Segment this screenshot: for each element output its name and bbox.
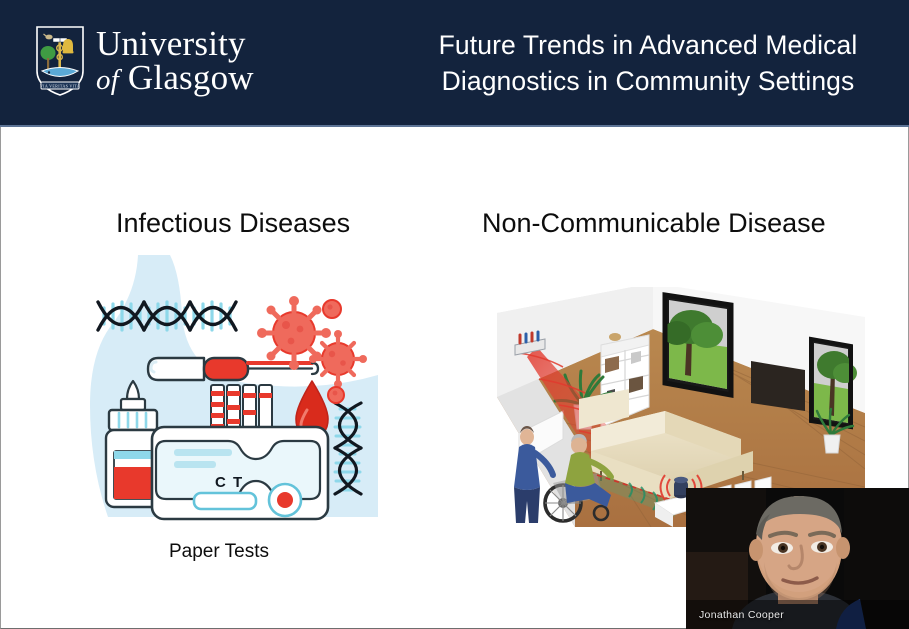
webcam-participant-name: Jonathan Cooper (699, 609, 784, 621)
heading-non-communicable-disease: Non-Communicable Disease (482, 208, 826, 239)
logo-line-of-glasgow: of Glasgow (96, 61, 254, 95)
logo-wordmark: University of Glasgow (96, 27, 254, 94)
slide-title-line-1: Future Trends in Advanced Medical (398, 27, 898, 63)
shelf-ornament (609, 333, 621, 341)
cassette-label-c: C (215, 474, 226, 491)
paper-diagnostics-illustration: C T (86, 255, 378, 527)
slide-title-line-2: Diagnostics in Community Settings (398, 63, 898, 99)
logo-word-of: of (96, 64, 119, 96)
webcam-video-frame (686, 488, 909, 629)
caption-paper-tests: Paper Tests (169, 541, 269, 563)
virus-small-1 (323, 300, 341, 318)
svg-text:VIA VERITAS VITA: VIA VERITAS VITA (40, 83, 80, 88)
logo-line-university: University (96, 27, 254, 61)
glasgow-crest-icon: VIA VERITAS VITA (34, 25, 86, 97)
lateral-flow-cassette-icon: C T (152, 427, 328, 519)
heading-infectious-diseases: Infectious Diseases (116, 208, 350, 239)
presentation-slide: VIA VERITAS VITA University of Glasgow F… (0, 0, 909, 629)
webcam-video-overlay[interactable]: Jonathan Cooper (686, 488, 909, 629)
slide-header: VIA VERITAS VITA University of Glasgow F… (0, 0, 909, 127)
cassette-label-t: T (233, 474, 242, 491)
slide-title: Future Trends in Advanced Medical Diagno… (398, 27, 898, 100)
university-of-glasgow-logo: VIA VERITAS VITA University of Glasgow (34, 25, 254, 97)
logo-word-glasgow: Glasgow (128, 58, 254, 97)
carer-legs (514, 487, 540, 523)
